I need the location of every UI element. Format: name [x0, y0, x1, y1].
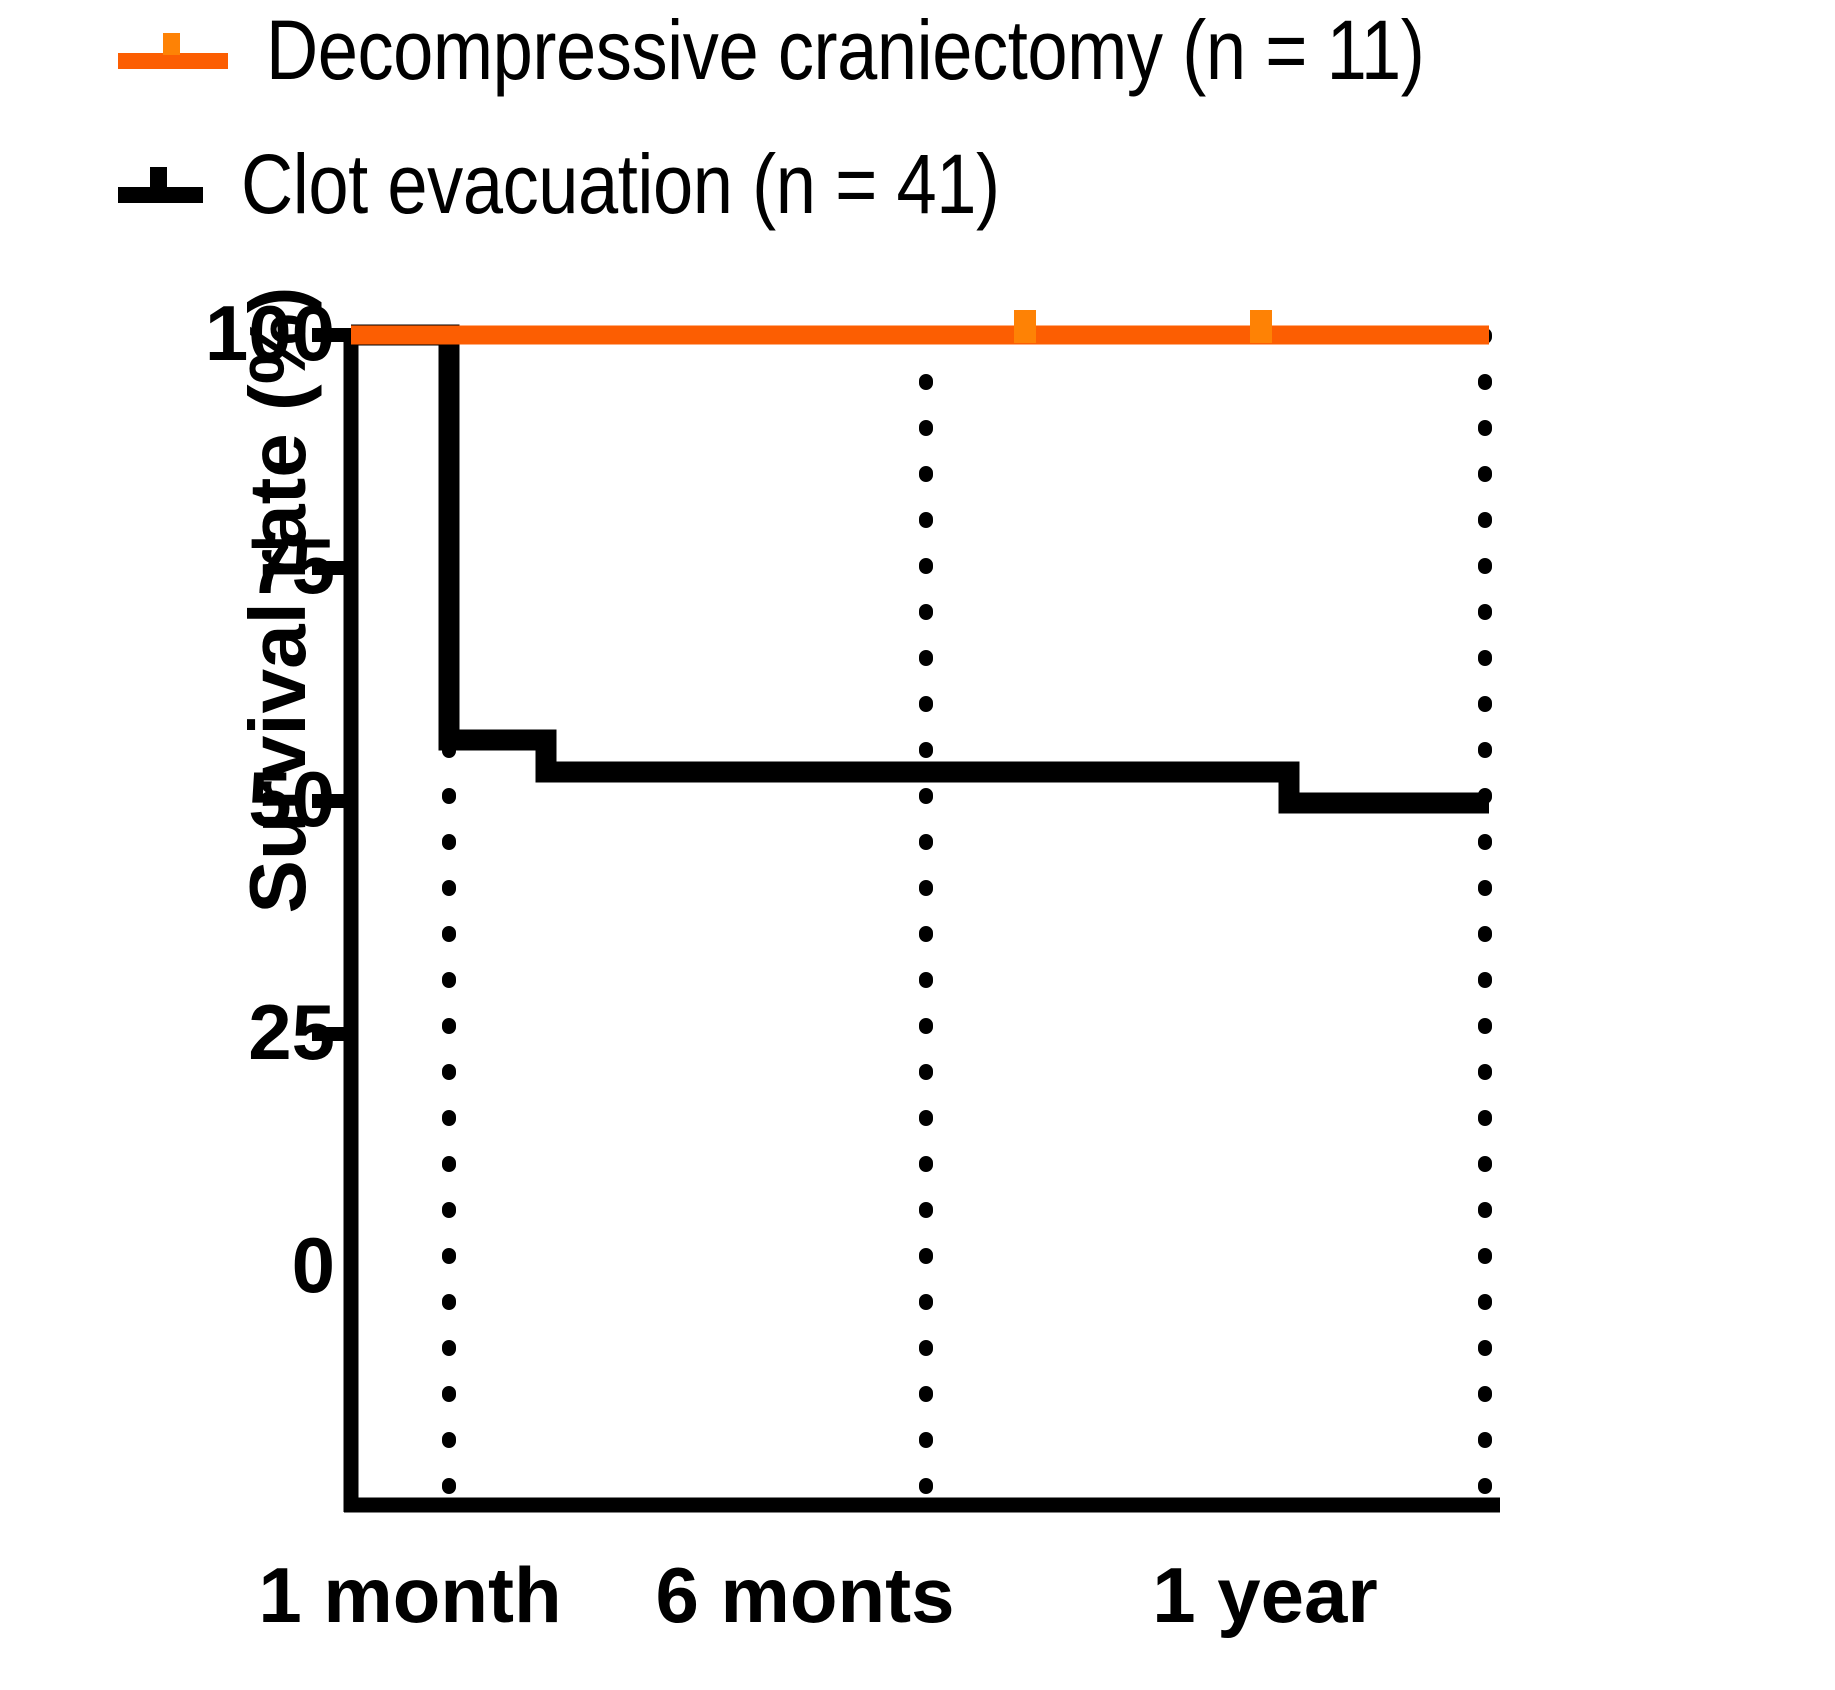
kaplan-meier-survival-figure: Decompressive craniectomy (n = 11) Clot …	[0, 0, 1835, 1690]
chart-canvas	[0, 0, 1835, 1690]
censor-mark-decompressive-1	[1014, 310, 1036, 343]
censor-mark-decompressive-2	[1250, 310, 1272, 343]
